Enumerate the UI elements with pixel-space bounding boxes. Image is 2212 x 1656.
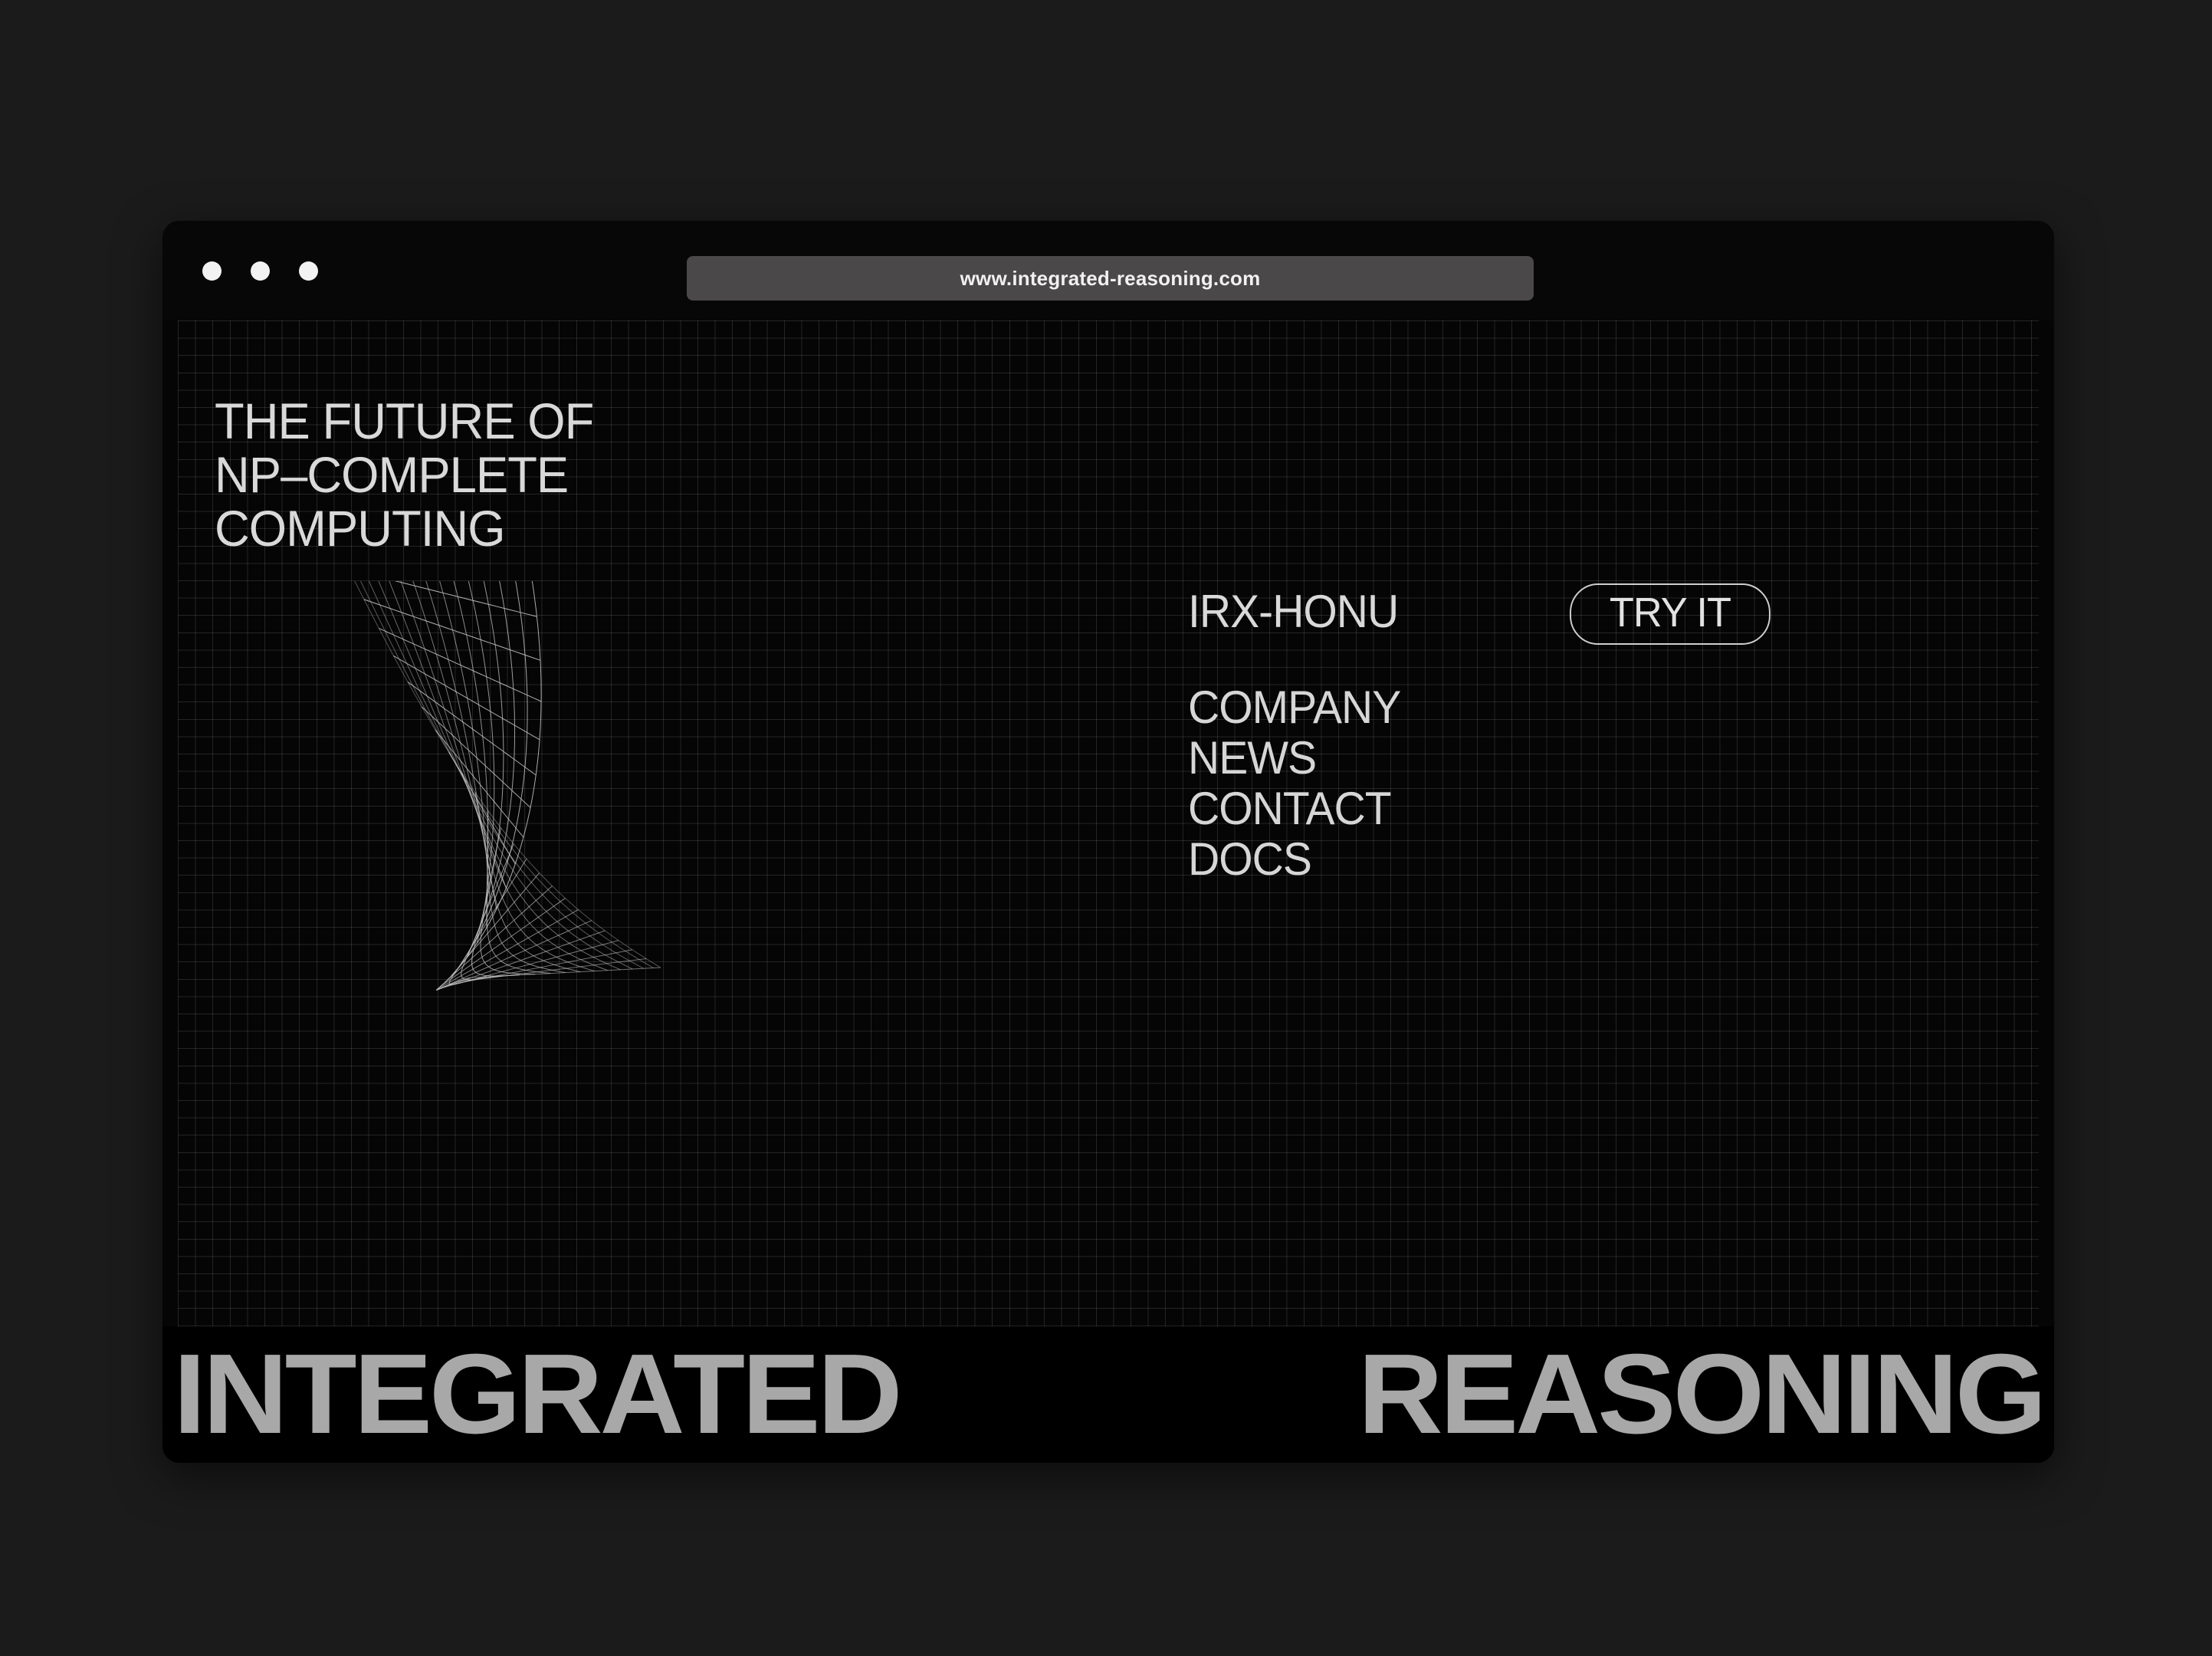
nav-brand[interactable]: IRX-HONU: [1188, 589, 1398, 635]
page-viewport: THE FUTURE OF NP–COMPLETE COMPUTING IRX-…: [178, 320, 2039, 1326]
traffic-light-dots: [202, 261, 318, 281]
nav-item-news[interactable]: NEWS: [1188, 733, 1400, 784]
nav-item-contact[interactable]: CONTACT: [1188, 784, 1400, 834]
nav-item-company[interactable]: COMPANY: [1188, 682, 1400, 733]
minimize-dot-icon[interactable]: [251, 261, 270, 281]
close-dot-icon[interactable]: [202, 261, 222, 281]
url-bar[interactable]: www.integrated-reasoning.com: [687, 256, 1534, 301]
url-text: www.integrated-reasoning.com: [960, 267, 1261, 291]
nav-links: COMPANY NEWS CONTACT DOCS: [1188, 682, 1400, 885]
browser-window: www.integrated-reasoning.com THE FUTURE …: [162, 221, 2054, 1463]
wireframe-ruled-surface-graphic: [224, 581, 914, 1056]
maximize-dot-icon[interactable]: [299, 261, 318, 281]
brand-wordmark: INTEGRATED REASONING: [162, 1326, 2054, 1463]
browser-chrome-bar: www.integrated-reasoning.com: [162, 221, 2054, 320]
wordmark-integrated: INTEGRATED: [173, 1337, 899, 1452]
try-it-button[interactable]: TRY IT: [1570, 583, 1771, 645]
page-title: THE FUTURE OF NP–COMPLETE COMPUTING: [215, 394, 593, 555]
nav-item-docs[interactable]: DOCS: [1188, 834, 1400, 885]
wordmark-reasoning: REASONING: [1357, 1337, 2043, 1452]
